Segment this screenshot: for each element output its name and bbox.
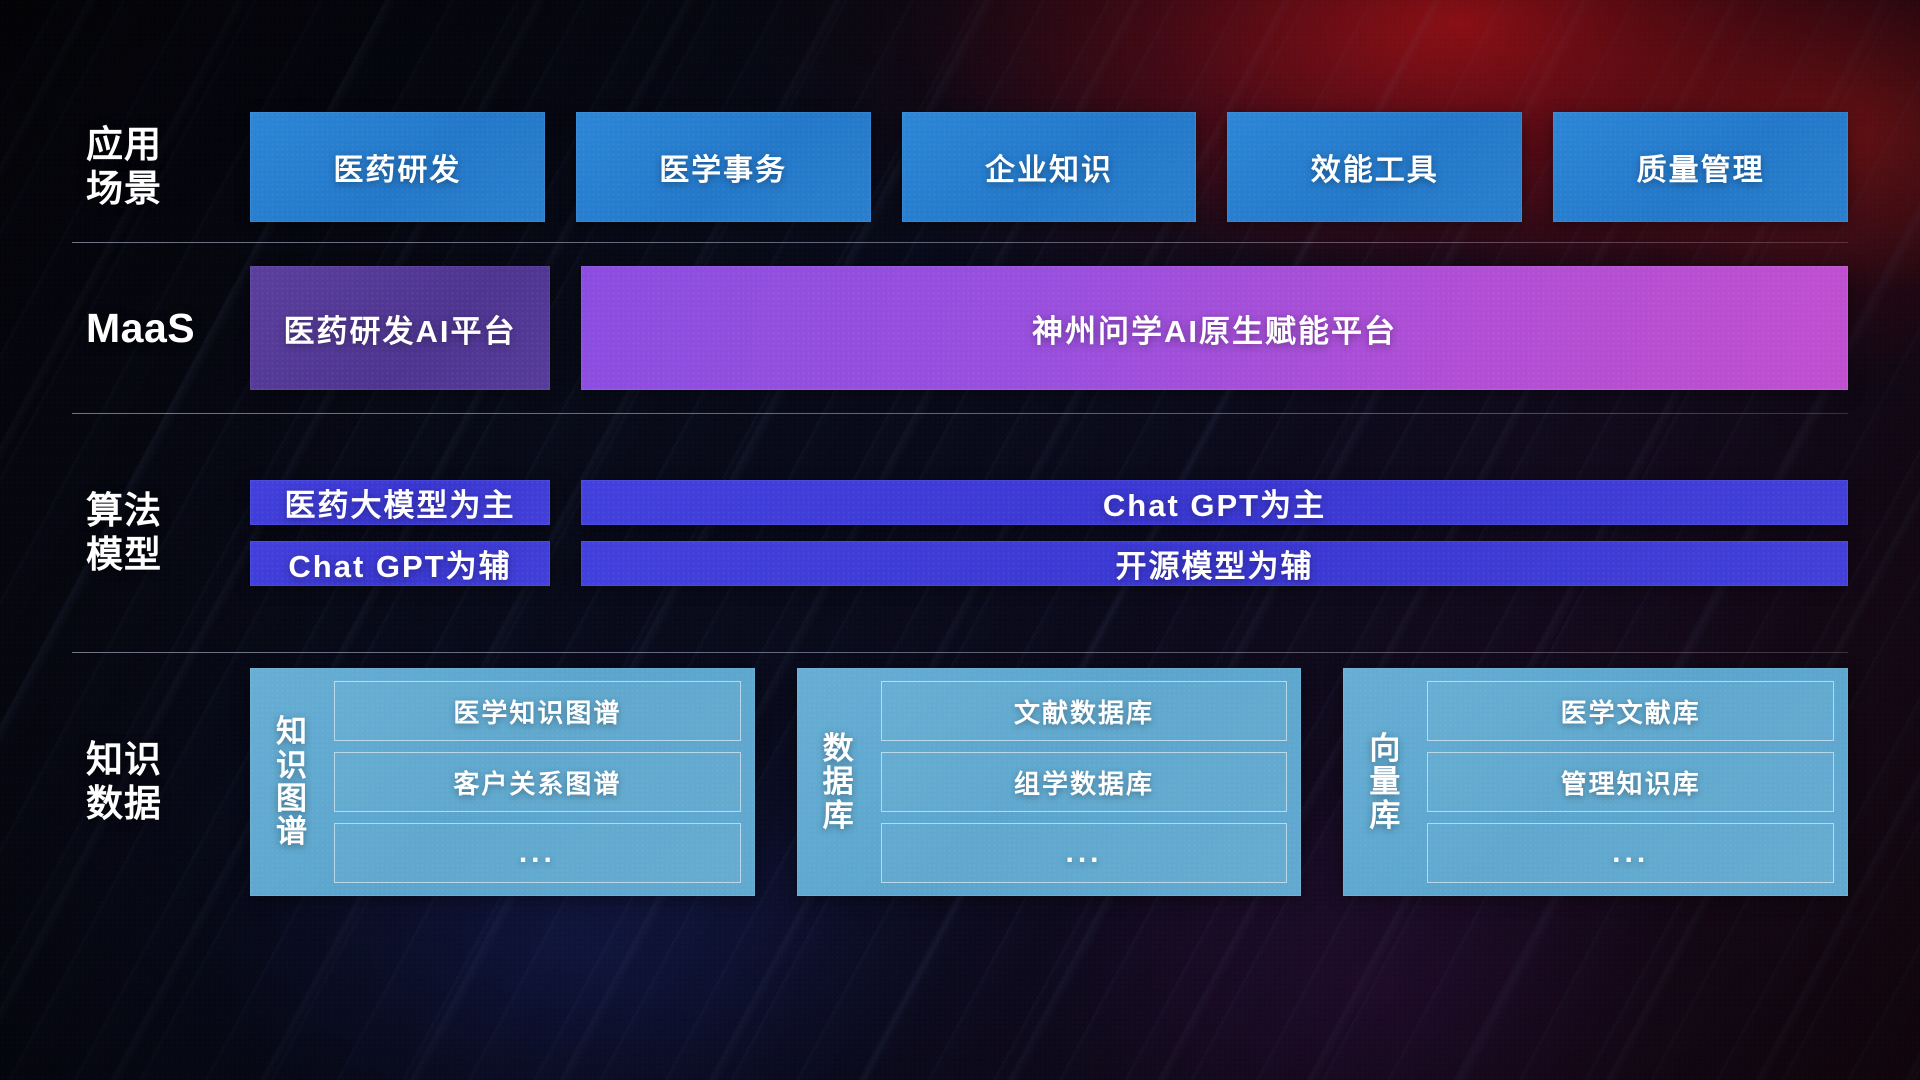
row-label-line: 知识	[86, 738, 250, 782]
row-label-line: 场景	[86, 167, 250, 211]
row-label-line: 模型	[86, 533, 250, 577]
model-box-label: 医药大模型为主	[285, 480, 516, 525]
maas-box-label: 神州问学AI原生赋能平台	[1032, 306, 1397, 351]
knowledge-item-medical-knowledge-graph[interactable]: 医学知识图谱	[334, 681, 741, 741]
model-box-pharma-llm-primary[interactable]: 医药大模型为主	[250, 480, 550, 525]
row-label-line: MaaS	[86, 304, 250, 352]
row-algorithm-models: 算法 模型 医药大模型为主 Chat GPT为主 Chat GPT为辅 开源模型…	[72, 414, 1848, 652]
vertical-label-char: 据	[823, 765, 855, 798]
model-box-label: Chat GPT为主	[1103, 480, 1326, 525]
application-scenario-grid: 医药研发 医学事务 企业知识 效能工具 质量管理	[250, 112, 1848, 222]
app-box-medical-affairs[interactable]: 医学事务	[576, 112, 871, 222]
app-box-efficiency-tools[interactable]: 效能工具	[1227, 112, 1522, 222]
vertical-label-char: 向	[1369, 732, 1401, 765]
row-maas: MaaS 医药研发AI平台 神州问学AI原生赋能平台	[72, 243, 1848, 413]
knowledge-panel-vertical-label: 数 据 库	[811, 681, 867, 883]
app-box-drug-rd[interactable]: 医药研发	[250, 112, 545, 222]
row-label-algorithm-models: 算法 模型	[72, 489, 250, 576]
row-body-knowledge-data: 知 识 图 谱 医学知识图谱 客户关系图谱 ... 数 据	[250, 668, 1848, 896]
knowledge-item-more[interactable]: ...	[334, 823, 741, 883]
knowledge-panel-vertical-label: 知 识 图 谱	[264, 681, 320, 883]
knowledge-panel-vector-store[interactable]: 向 量 库 医学文献库 管理知识库 ...	[1343, 668, 1848, 896]
model-box-chatgpt-secondary[interactable]: Chat GPT为辅	[250, 541, 550, 586]
maas-box-shenzhou-wenxue-platform[interactable]: 神州问学AI原生赋能平台	[581, 266, 1848, 390]
row-label-knowledge-data: 知识 数据	[72, 738, 250, 825]
model-box-label: 开源模型为辅	[1116, 541, 1314, 586]
vertical-label-char: 知	[276, 715, 308, 748]
knowledge-item-customer-relationship-graph[interactable]: 客户关系图谱	[334, 752, 741, 812]
architecture-diagram: 应用 场景 医药研发 医学事务 企业知识 效能工具 质量管理	[72, 92, 1848, 998]
row-label-line: 算法	[86, 489, 250, 533]
row-knowledge-data: 知识 数据 知 识 图 谱 医学知识图谱 客户关系图谱 ...	[72, 653, 1848, 911]
knowledge-item-management-knowledge-library[interactable]: 管理知识库	[1427, 752, 1834, 812]
knowledge-panel-items: 文献数据库 组学数据库 ...	[881, 681, 1288, 883]
knowledge-item-literature-database[interactable]: 文献数据库	[881, 681, 1288, 741]
knowledge-item-omics-database[interactable]: 组学数据库	[881, 752, 1288, 812]
row-body-application-scenarios: 医药研发 医学事务 企业知识 效能工具 质量管理	[250, 112, 1848, 222]
vertical-label-char: 谱	[276, 815, 308, 848]
app-box-quality-management[interactable]: 质量管理	[1553, 112, 1848, 222]
vertical-label-char: 库	[823, 799, 855, 832]
algorithm-model-grid: 医药大模型为主 Chat GPT为主 Chat GPT为辅 开源模型为辅	[250, 480, 1848, 586]
knowledge-panel-database[interactable]: 数 据 库 文献数据库 组学数据库 ...	[797, 668, 1302, 896]
maas-box-label: 医药研发AI平台	[284, 306, 517, 351]
knowledge-panel-grid: 知 识 图 谱 医学知识图谱 客户关系图谱 ... 数 据	[250, 668, 1848, 896]
maas-grid: 医药研发AI平台 神州问学AI原生赋能平台	[250, 266, 1848, 390]
app-box-label: 企业知识	[985, 145, 1113, 189]
app-box-label: 质量管理	[1637, 145, 1765, 189]
knowledge-item-more[interactable]: ...	[881, 823, 1288, 883]
app-box-label: 医药研发	[333, 145, 461, 189]
vertical-label-char: 库	[1369, 799, 1401, 832]
model-box-chatgpt-primary[interactable]: Chat GPT为主	[581, 480, 1848, 525]
row-label-line: 数据	[86, 782, 250, 826]
row-application-scenarios: 应用 场景 医药研发 医学事务 企业知识 效能工具 质量管理	[72, 92, 1848, 242]
vertical-label-char: 识	[276, 749, 308, 782]
row-label-maas: MaaS	[72, 304, 250, 352]
vertical-label-char: 图	[276, 782, 308, 815]
maas-box-drug-rd-ai-platform[interactable]: 医药研发AI平台	[250, 266, 550, 390]
row-body-algorithm-models: 医药大模型为主 Chat GPT为主 Chat GPT为辅 开源模型为辅	[250, 480, 1848, 586]
app-box-label: 医学事务	[659, 145, 787, 189]
app-box-label: 效能工具	[1311, 145, 1439, 189]
row-label-line: 应用	[86, 123, 250, 167]
app-box-enterprise-knowledge[interactable]: 企业知识	[902, 112, 1197, 222]
knowledge-panel-vertical-label: 向 量 库	[1357, 681, 1413, 883]
knowledge-panel-items: 医学知识图谱 客户关系图谱 ...	[334, 681, 741, 883]
knowledge-item-medical-literature-library[interactable]: 医学文献库	[1427, 681, 1834, 741]
row-label-application-scenarios: 应用 场景	[72, 123, 250, 210]
model-box-label: Chat GPT为辅	[288, 541, 511, 586]
vertical-label-char: 数	[823, 732, 855, 765]
vertical-label-char: 量	[1369, 765, 1401, 798]
model-box-opensource-secondary[interactable]: 开源模型为辅	[581, 541, 1848, 586]
row-body-maas: 医药研发AI平台 神州问学AI原生赋能平台	[250, 266, 1848, 390]
knowledge-panel-knowledge-graph[interactable]: 知 识 图 谱 医学知识图谱 客户关系图谱 ...	[250, 668, 755, 896]
knowledge-item-more[interactable]: ...	[1427, 823, 1834, 883]
knowledge-panel-items: 医学文献库 管理知识库 ...	[1427, 681, 1834, 883]
